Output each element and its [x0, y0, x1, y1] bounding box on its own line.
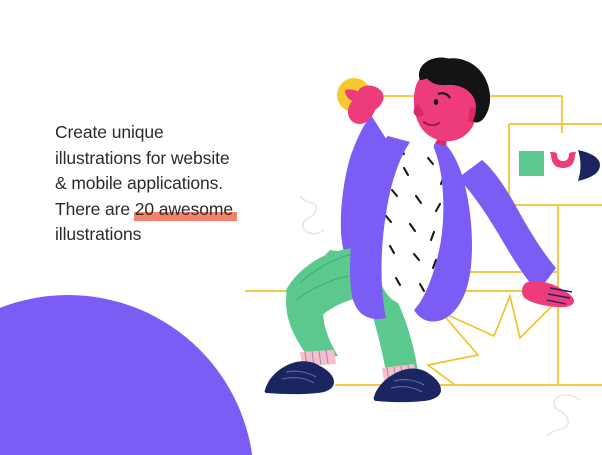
right-sleeve [458, 160, 556, 292]
headline-line-2: illustrations for website [55, 146, 323, 172]
headline-highlight: 20 awesome [135, 197, 233, 223]
illustration-canvas: Create unique illustrations for website … [0, 0, 602, 455]
headline-block: Create unique illustrations for website … [55, 120, 323, 248]
headline-line-4: There are 20 awesome [55, 197, 323, 223]
headline-line-4-prefix: There are [55, 199, 135, 219]
highlight-label: 20 awesome [135, 199, 233, 219]
headline-line-1: Create unique [55, 120, 323, 146]
headline-line-3: & mobile applications. [55, 171, 323, 197]
eye [434, 99, 438, 105]
headline-line-5: illustrations [55, 222, 323, 248]
